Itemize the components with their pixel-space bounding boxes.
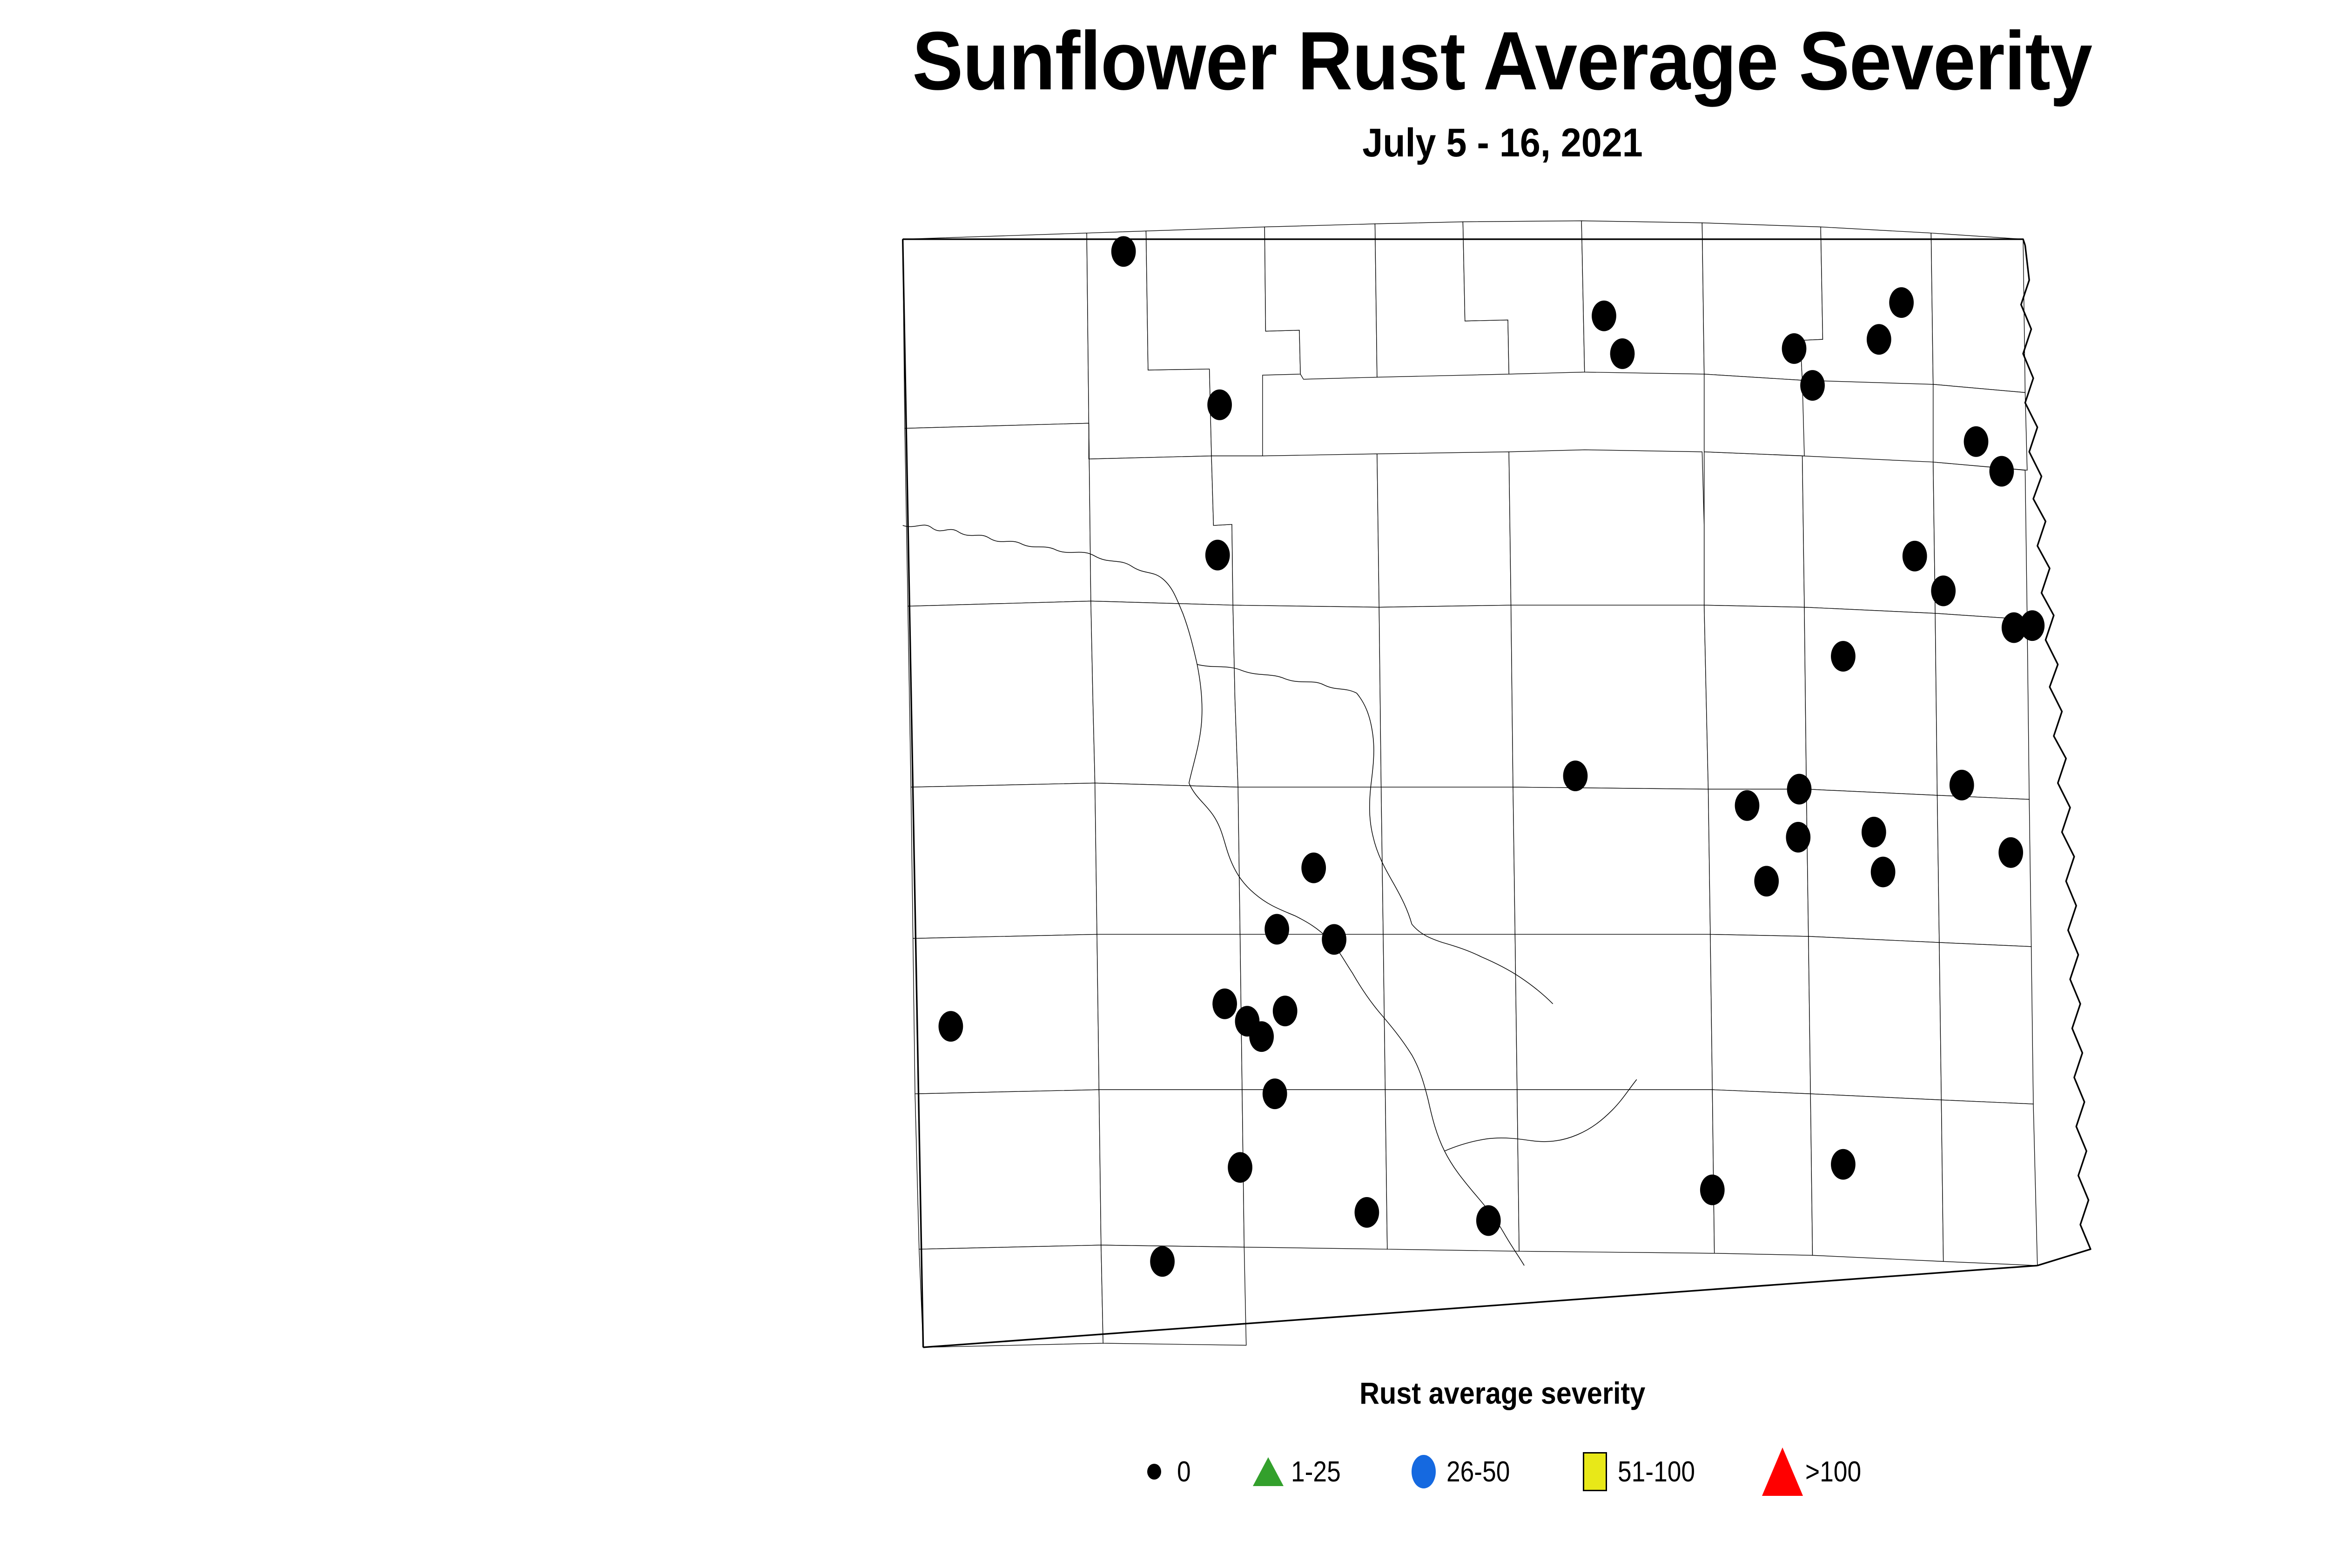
- north-dakota-map: [666, 219, 2327, 1364]
- sample-point: [1931, 576, 1956, 606]
- legend-label: 1-25: [1291, 1455, 1341, 1488]
- sample-point: [1786, 822, 1810, 853]
- legend-label: 26-50: [1446, 1455, 1510, 1488]
- sample-point: [1735, 790, 1760, 821]
- sample-point: [1950, 770, 1974, 801]
- sample-point: [1592, 301, 1616, 331]
- legend-title: Rust average severity: [1359, 1378, 1645, 1408]
- sample-point: [1889, 287, 1914, 318]
- sample-point: [1273, 996, 1298, 1026]
- sample-point: [1782, 333, 1807, 364]
- sample-point: [1228, 1152, 1252, 1183]
- legend: Rust average severity 0 1-25 26-50 51-10…: [0, 1378, 2327, 1496]
- sample-point: [1610, 338, 1635, 369]
- triangle-red-icon: [1762, 1447, 1802, 1496]
- legend-label: >100: [1805, 1455, 1861, 1488]
- page-subtitle: July 5 - 16, 2021: [1362, 123, 1643, 163]
- sample-point: [1862, 817, 1886, 848]
- sample-point: [1831, 641, 1856, 672]
- circle-blue-icon: [1404, 1455, 1444, 1488]
- sample-point: [1903, 541, 1927, 572]
- sample-point: [1787, 774, 1812, 805]
- legend-item-3: 51-100: [1575, 1452, 1708, 1491]
- sample-point: [1998, 837, 2023, 868]
- sample-point: [939, 1011, 963, 1042]
- legend-label: 0: [1177, 1455, 1191, 1488]
- sample-point: [1476, 1205, 1501, 1236]
- sample-point: [1263, 1078, 1287, 1109]
- triangle-green-icon: [1248, 1457, 1288, 1486]
- sample-point: [1355, 1197, 1379, 1228]
- sample-point: [1301, 853, 1326, 883]
- sample-point: [1831, 1149, 1856, 1180]
- page-title: Sunflower Rust Average Severity: [913, 20, 2092, 102]
- legend-item-2: 26-50: [1404, 1455, 1520, 1488]
- legend-item-1: 1-25: [1248, 1455, 1349, 1488]
- sample-point: [1111, 236, 1136, 267]
- sample-point: [1150, 1246, 1175, 1277]
- figure-root: Sunflower Rust Average Severity July 5 -…: [0, 0, 2327, 1568]
- sample-point: [1207, 390, 1232, 420]
- sample-point: [1964, 426, 1989, 457]
- sample-point: [1205, 540, 1230, 571]
- legend-items: 0 1-25 26-50 51-100 >100: [1134, 1447, 1870, 1496]
- legend-item-0: 0: [1134, 1455, 1193, 1488]
- sample-point: [1800, 370, 1825, 401]
- sample-point: [1322, 924, 1346, 955]
- sample-point: [1990, 456, 2014, 487]
- sample-point: [1249, 1021, 1274, 1052]
- county-layer: [903, 221, 2038, 1347]
- legend-label: 51-100: [1618, 1455, 1695, 1488]
- sample-point: [2020, 610, 2045, 641]
- map-svg: [666, 219, 2327, 1364]
- legend-item-4: >100: [1762, 1447, 1870, 1496]
- sample-point: [1264, 914, 1289, 945]
- sample-point: [1754, 866, 1779, 896]
- sample-point: [1563, 760, 1588, 791]
- sample-point: [1867, 324, 1891, 355]
- sample-point: [1700, 1175, 1725, 1205]
- sample-point: [1871, 857, 1896, 888]
- sample-point: [1212, 989, 1237, 1019]
- dot-icon: [1134, 1464, 1174, 1480]
- square-yellow-icon: [1575, 1452, 1615, 1491]
